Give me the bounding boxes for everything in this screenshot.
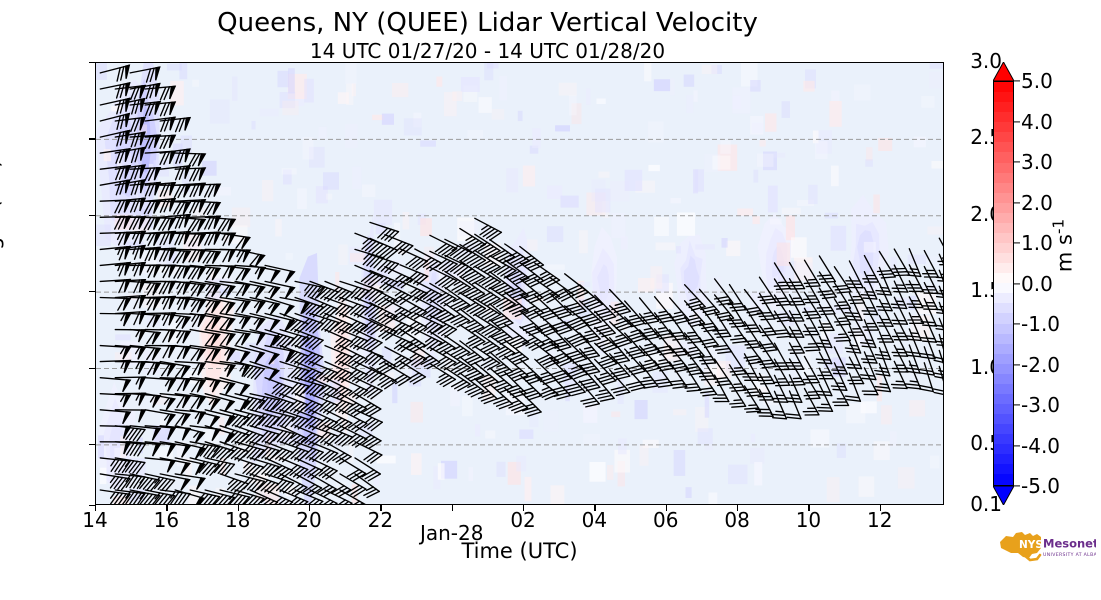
shading-cell xyxy=(547,226,563,242)
logo-tagline-text: UNIVERSITY AT ALBANY xyxy=(1043,552,1096,558)
x-axis-label: Time (UTC) xyxy=(95,539,944,563)
barb-full xyxy=(892,384,906,385)
colorbar-tick-mark xyxy=(1014,364,1020,365)
shading-cell xyxy=(232,77,237,101)
shading-cell xyxy=(782,101,791,118)
barb-full xyxy=(788,401,802,402)
barb-half xyxy=(734,400,742,401)
colorbar-band xyxy=(994,313,1013,323)
barb-half xyxy=(880,352,888,353)
shading-cell xyxy=(452,91,462,101)
barb-full xyxy=(878,310,892,311)
shading-cell xyxy=(579,230,588,253)
colorbar-band xyxy=(994,444,1013,454)
shading-cell xyxy=(930,455,939,468)
colorbar-band xyxy=(994,293,1013,303)
shading-cell xyxy=(278,71,289,88)
colorbar-band xyxy=(994,273,1013,283)
colorbar-tick-label: -2.0 xyxy=(1021,353,1060,377)
shading-cell xyxy=(726,241,740,256)
barb-full xyxy=(819,311,833,312)
barb-full xyxy=(757,313,771,314)
shading-cell xyxy=(411,402,424,423)
shading-cell xyxy=(695,244,715,249)
colorbar-unit-exponent: -1 xyxy=(1050,219,1068,234)
barb-full xyxy=(817,407,831,408)
shading-cell xyxy=(586,88,591,105)
shading-cell xyxy=(115,334,130,340)
x-tick-mark xyxy=(452,505,453,511)
shading-cell xyxy=(469,467,474,481)
shading-cell xyxy=(362,184,375,197)
shading-cell xyxy=(436,77,442,87)
barb-half xyxy=(880,384,888,385)
shading-cell xyxy=(569,95,577,116)
barb-half xyxy=(940,306,944,307)
barb-full xyxy=(893,308,907,309)
shading-cell xyxy=(210,99,230,123)
shading-cell xyxy=(777,243,791,266)
barb-half xyxy=(735,335,743,336)
colorbar-tick-mark xyxy=(1014,404,1020,405)
colorbar-unit-label: m s-1 xyxy=(1050,176,1077,316)
colorbar-band xyxy=(994,344,1013,354)
barb-full xyxy=(744,328,758,329)
barb-full xyxy=(821,314,835,315)
colorbar-band xyxy=(994,163,1013,173)
barb-half xyxy=(734,384,742,385)
colorbar-band xyxy=(994,364,1013,374)
shading-cell xyxy=(654,79,670,91)
shading-cell xyxy=(722,238,728,248)
colorbar-band xyxy=(994,233,1013,243)
shading-cell xyxy=(104,149,111,161)
shading-cell xyxy=(497,462,506,477)
colorbar-band xyxy=(994,384,1013,394)
shading-cell xyxy=(865,159,873,167)
colorbar-tick-label: -4.0 xyxy=(1021,434,1060,458)
colorbar-band xyxy=(994,132,1013,142)
colorbar-tick-label: 3.0 xyxy=(1021,150,1053,174)
shading-cell xyxy=(516,456,526,472)
barb-half xyxy=(910,381,918,382)
colorbar-unit-text: m s xyxy=(1053,234,1077,272)
colorbar-band xyxy=(994,122,1013,132)
shading-cell xyxy=(492,109,505,120)
colorbar-extend-max-arrow xyxy=(993,62,1014,81)
shading-cell xyxy=(854,85,871,101)
barb-full xyxy=(789,381,803,382)
shading-cell xyxy=(927,227,944,235)
shading-cell xyxy=(326,194,332,200)
shading-cell xyxy=(712,156,730,170)
shading-cell xyxy=(304,79,314,103)
colorbar-band xyxy=(994,283,1013,293)
colorbar-band xyxy=(994,82,1013,92)
shading-cell xyxy=(392,83,408,97)
colorbar-band xyxy=(994,454,1013,464)
logo-mesonet-text: Mesonet xyxy=(1043,537,1096,551)
colorbar-band xyxy=(994,112,1013,122)
barb-full xyxy=(880,274,894,275)
y-tick-label: 1.5 xyxy=(0,278,1002,302)
shading-cell xyxy=(621,237,628,250)
colorbar-band xyxy=(994,102,1013,112)
shading-cell xyxy=(753,170,758,183)
barb-full xyxy=(817,343,831,344)
shading-cell xyxy=(282,101,298,116)
colorbar-band xyxy=(994,263,1013,273)
y-tick-label: 2.5 xyxy=(0,125,1002,149)
colorbar-band xyxy=(994,213,1013,223)
shading-cell xyxy=(559,83,577,96)
colorbar-band xyxy=(994,464,1013,474)
shading-cell xyxy=(684,75,695,87)
shading-cell xyxy=(829,101,841,127)
colorbar-band xyxy=(994,424,1013,434)
barb-full xyxy=(836,340,850,341)
shading-cell xyxy=(831,226,847,251)
colorbar-band xyxy=(994,474,1013,484)
shading-cell xyxy=(635,400,648,419)
shading-cell xyxy=(96,225,111,247)
shading-cell xyxy=(728,465,748,485)
barb-full xyxy=(893,388,907,389)
barb-full xyxy=(845,313,859,314)
barb-full xyxy=(806,350,820,351)
shading-cell xyxy=(908,255,926,265)
shading-cell xyxy=(803,81,814,92)
barb-half xyxy=(839,334,847,335)
barb-full xyxy=(847,316,861,317)
colorbar-band xyxy=(994,404,1013,414)
barb-half xyxy=(749,405,757,406)
colorbar-tick-label: -5.0 xyxy=(1021,474,1060,498)
colorbar-band xyxy=(994,354,1013,364)
shading-cell xyxy=(877,375,882,401)
barb-full xyxy=(761,383,775,384)
shading-cell xyxy=(673,409,686,415)
colorbar-band xyxy=(994,173,1013,183)
shading-cell xyxy=(596,99,605,105)
shading-cell xyxy=(352,167,361,189)
barb-full xyxy=(791,385,805,386)
barb-full xyxy=(818,275,832,276)
colorbar-band xyxy=(994,183,1013,193)
colorbar-band xyxy=(994,152,1013,162)
barb-full xyxy=(804,395,818,396)
colorbar-band xyxy=(994,203,1013,213)
shading-cell xyxy=(607,465,613,480)
logo-nys-text: NYS xyxy=(1019,539,1043,551)
colorbar-band xyxy=(994,324,1013,334)
barb-staff xyxy=(175,153,205,154)
shading-cell xyxy=(693,90,697,102)
barb-full xyxy=(819,411,833,412)
barb-full xyxy=(891,304,905,305)
colorbar-tick-mark xyxy=(1014,445,1020,446)
colorbar-tick-label: 1.0 xyxy=(1021,231,1053,255)
shading-cell xyxy=(648,165,660,171)
barb-full xyxy=(894,324,908,325)
shading-cell xyxy=(479,97,492,113)
shading-cell xyxy=(523,166,535,187)
shading-cell xyxy=(831,166,839,187)
colorbar-band xyxy=(994,414,1013,424)
shading-cell xyxy=(611,412,620,418)
shading-cell xyxy=(350,253,365,262)
shading-cell xyxy=(192,80,199,87)
barb-half xyxy=(910,269,918,270)
shading-cell xyxy=(382,114,394,125)
colorbar-tick-label: -1.0 xyxy=(1021,312,1060,336)
colorbar-tick-label: 0.0 xyxy=(1021,272,1053,296)
shading-cell xyxy=(462,396,473,416)
shading-cell xyxy=(544,411,559,432)
colorbar-band xyxy=(994,374,1013,384)
shading-cell xyxy=(438,463,445,480)
colorbar-band xyxy=(994,394,1013,404)
y-tick-label: 0.5 xyxy=(0,431,1002,455)
shading-cell xyxy=(625,170,643,191)
shading-cell xyxy=(921,96,934,108)
shading-cell xyxy=(285,253,292,260)
shading-cell xyxy=(757,154,774,167)
barb-half xyxy=(776,411,784,412)
y-tick-label: 3.0 xyxy=(0,49,1002,73)
shading-cell xyxy=(411,453,422,475)
colorbar-band xyxy=(994,434,1013,444)
shading-cell xyxy=(898,467,915,489)
colorbar-band xyxy=(994,223,1013,233)
barb-full xyxy=(728,320,742,321)
colorbar-tick-label: -3.0 xyxy=(1021,393,1060,417)
barb-full xyxy=(878,271,892,272)
shading-cell xyxy=(791,237,807,257)
barb-full xyxy=(759,316,773,317)
barb-full xyxy=(772,398,786,399)
shading-cell xyxy=(100,468,107,484)
shading-cell xyxy=(527,239,538,251)
barb-half xyxy=(866,340,874,341)
colorbar-tick-mark xyxy=(1014,161,1020,162)
x-tick-label: 12 xyxy=(820,508,940,532)
barb-full xyxy=(746,331,760,332)
figure-root: Queens, NY (QUEE) Lidar Vertical Velocit… xyxy=(0,0,1101,600)
colorbar-band xyxy=(994,142,1013,152)
colorbar-band xyxy=(994,253,1013,263)
barb-full xyxy=(730,323,744,324)
barb-half xyxy=(688,332,696,333)
colorbar-tick-mark xyxy=(1014,242,1020,243)
shading-cell xyxy=(864,242,876,253)
shading-cell xyxy=(282,168,297,174)
colorbar-tick-mark xyxy=(1014,485,1020,486)
barb-half xyxy=(821,340,829,341)
barb-full xyxy=(833,389,847,390)
barb-full xyxy=(834,337,848,338)
shading-cell xyxy=(670,79,675,96)
colorbar-tick-label: 5.0 xyxy=(1021,69,1053,93)
shading-cell xyxy=(881,405,892,424)
barb-full xyxy=(818,395,832,396)
colorbar-tick-mark xyxy=(1014,283,1020,284)
colorbar-band xyxy=(994,334,1013,344)
shading-cell xyxy=(323,172,339,190)
shading-cell xyxy=(547,186,562,200)
shading-cell xyxy=(461,77,480,92)
colorbar-tick-mark xyxy=(1014,80,1020,81)
shading-cell xyxy=(929,72,944,89)
shading-cell xyxy=(909,400,925,416)
shading-cell xyxy=(750,80,760,92)
barb-full xyxy=(759,380,773,381)
colorbar-tick-mark xyxy=(1014,323,1020,324)
colorbar-tick-mark xyxy=(1014,202,1020,203)
y-tick-label: 2.0 xyxy=(0,202,1002,226)
shading-cell xyxy=(599,172,610,178)
shading-cell xyxy=(932,161,945,169)
nys-mesonet-logo[interactable]: NYS Mesonet UNIVERSITY AT ALBANY xyxy=(996,524,1096,568)
shading-cell xyxy=(262,180,273,201)
barb-half xyxy=(764,328,772,329)
barb-full xyxy=(743,325,757,326)
shading-cell xyxy=(338,245,348,265)
barb-full xyxy=(892,320,906,321)
barb-full xyxy=(848,320,862,321)
barb-full xyxy=(806,398,820,399)
shading-cell xyxy=(656,242,676,250)
barb-full xyxy=(804,347,818,348)
barb-half xyxy=(911,333,919,334)
shading-cell xyxy=(732,88,750,114)
colorbar-extend-min-arrow xyxy=(993,486,1014,505)
shading-cell xyxy=(686,95,693,113)
shading-cell xyxy=(754,462,762,485)
colorbar-tick-label: 2.0 xyxy=(1021,191,1053,215)
colorbar-tick-label: 4.0 xyxy=(1021,110,1053,134)
barb-half xyxy=(809,392,817,393)
shading-cell xyxy=(846,404,865,424)
barb-half xyxy=(940,339,944,340)
colorbar-band xyxy=(994,193,1013,203)
shading-cell xyxy=(338,92,349,104)
shading-cell xyxy=(676,246,681,253)
shading-cell xyxy=(499,76,507,100)
shading-cell xyxy=(590,462,606,482)
barb-full xyxy=(851,303,865,304)
barb-full xyxy=(791,305,805,306)
shading-cell xyxy=(695,169,704,191)
colorbar[interactable]: 5.04.03.02.01.00.0-1.0-2.0-3.0-4.0-5.0 xyxy=(993,62,1014,505)
colorbar-band xyxy=(994,92,1013,102)
barb-full xyxy=(818,347,832,348)
barb-half xyxy=(839,318,847,319)
barb-full xyxy=(776,385,790,386)
colorbar-tick-mark xyxy=(1014,121,1020,122)
shading-cell xyxy=(546,264,564,269)
colorbar-band xyxy=(994,303,1013,313)
barb-full xyxy=(817,391,831,392)
shading-cell xyxy=(518,111,523,121)
barb-full xyxy=(877,307,891,308)
y-tick-label: 1.0 xyxy=(0,355,1002,379)
colorbar-gradient xyxy=(993,81,1014,486)
barb-half xyxy=(791,395,799,396)
barb-full xyxy=(761,319,775,320)
shading-cell xyxy=(506,168,518,192)
barb-full xyxy=(817,307,831,308)
shading-cell xyxy=(260,109,279,117)
page-title: Queens, NY (QUEE) Lidar Vertical Velocit… xyxy=(0,8,975,39)
colorbar-band xyxy=(994,243,1013,253)
barb-full xyxy=(832,386,846,387)
barb-half xyxy=(850,345,858,346)
barb-full xyxy=(892,269,906,270)
shading-cell xyxy=(774,153,786,158)
